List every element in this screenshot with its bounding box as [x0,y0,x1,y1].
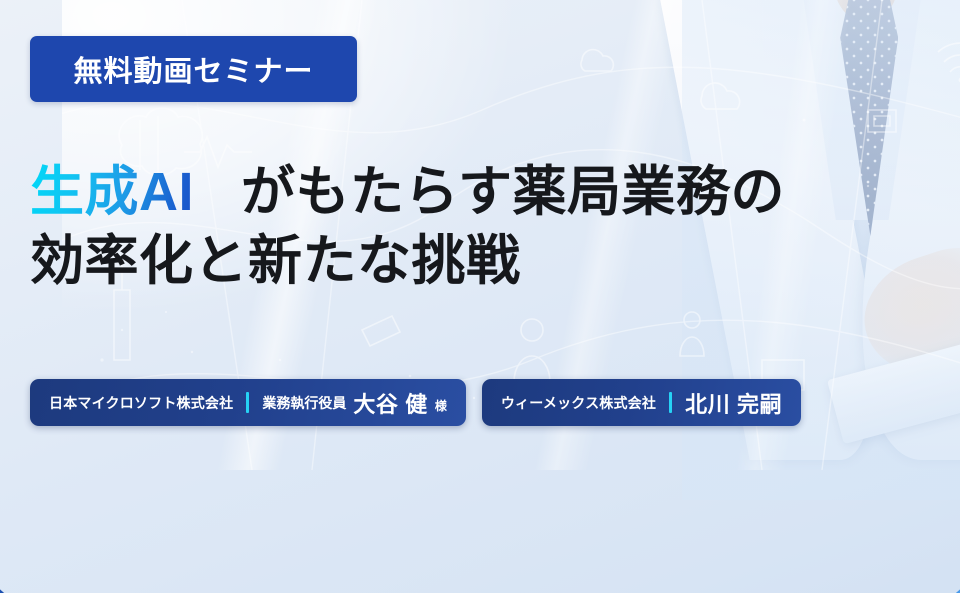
seminar-type-label: 無料動画セミナー [73,48,313,90]
speaker-divider [246,392,249,413]
speaker-divider [669,392,672,413]
headline-line-1: 生成AI がもたらす薬局業務の [30,158,930,227]
speaker-badge: 日本マイクロソフト株式会社 業務執行役員 大谷 健 様 [30,379,466,426]
headline-line-2: 効率化と新たな挑戦 [30,227,930,296]
speaker-honorific: 様 [435,397,447,414]
speaker-list: 日本マイクロソフト株式会社 業務執行役員 大谷 健 様 ウィーメックス株式会社 … [30,379,801,426]
seminar-type-badge: 無料動画セミナー [30,36,357,102]
speaker-name: 大谷 健 [353,387,428,419]
banner-content: 無料動画セミナー 生成AI がもたらす薬局業務の 効率化と新たな挑戦 日本マイク… [0,0,960,593]
speaker-organization: 日本マイクロソフト株式会社 [49,393,233,413]
speaker-role: 業務執行役員 [262,393,346,413]
speaker-badge: ウィーメックス株式会社 北川 完嗣 [482,379,801,426]
headline-line-1-rest: がもたらす薬局業務の [241,162,785,222]
seminar-banner: 無料動画セミナー 生成AI がもたらす薬局業務の 効率化と新たな挑戦 日本マイク… [0,0,960,593]
headline-accent: 生成AI [30,162,194,222]
speaker-organization: ウィーメックス株式会社 [501,393,656,413]
page-title: 生成AI がもたらす薬局業務の 効率化と新たな挑戦 [30,158,930,296]
speaker-name: 北川 完嗣 [685,387,782,419]
